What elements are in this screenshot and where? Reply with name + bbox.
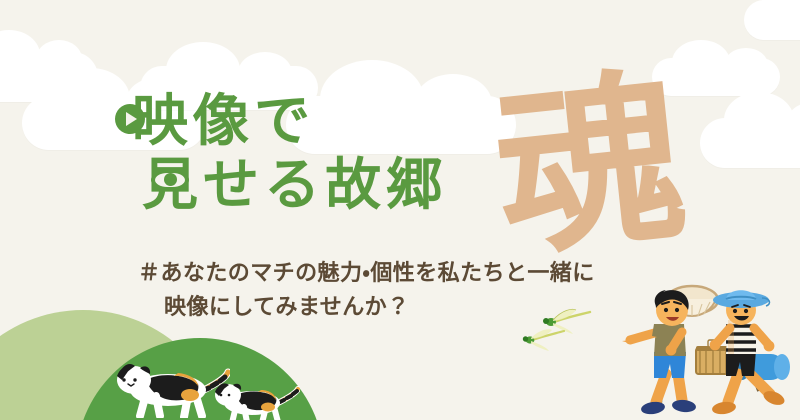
- play-icon: [115, 104, 145, 134]
- boy-left: [622, 290, 697, 416]
- banner-root: 魂 映 像 で 見 せ る 故 郷: [0, 0, 800, 420]
- title-char-mi: 見: [142, 156, 203, 214]
- title-char-ru: る: [264, 156, 325, 214]
- title-char-zou: 像: [193, 92, 254, 150]
- subtitle-line-2: 映像にしてみませんか？: [138, 290, 595, 324]
- title-char-ei: 映: [132, 92, 193, 150]
- cat-illustration-small: [206, 382, 300, 420]
- title-char-de: で: [254, 92, 315, 150]
- subtitle-line-1: ＃あなたのマチの魅力・個性を私たちと一緒に: [138, 256, 595, 290]
- dragonfly-icon: [520, 328, 566, 352]
- eye-icon: [151, 169, 189, 191]
- page-title: 映 像 で 見 せ る 故 郷: [132, 92, 562, 214]
- cloud-icon: [700, 118, 800, 168]
- cloud-icon: [744, 0, 800, 40]
- title-char-kyou: 郷: [386, 156, 447, 214]
- title-line-1: 映 像 で: [132, 92, 562, 150]
- boys-illustration: [620, 282, 800, 420]
- title-char-ko: 故: [325, 156, 386, 214]
- title-line-2: 見 せ る 故 郷: [142, 156, 562, 214]
- subtitle: ＃あなたのマチの魅力・個性を私たちと一緒に 映像にしてみませんか？: [138, 256, 595, 324]
- title-char-se: せ: [203, 156, 264, 214]
